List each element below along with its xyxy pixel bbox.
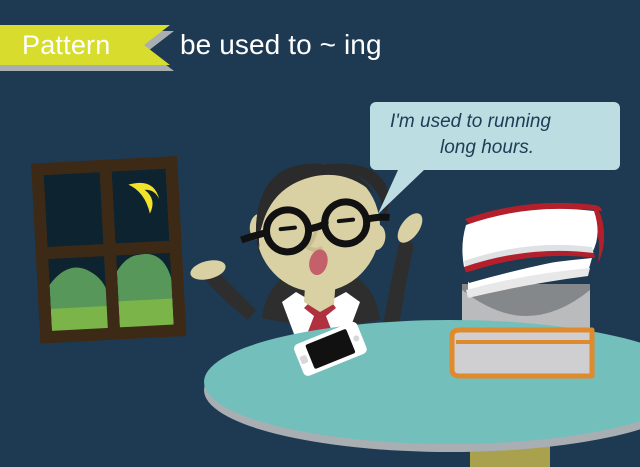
speech-bubble-line-2: long hours. xyxy=(440,137,534,159)
speech-bubble-line-1: I'm used to running xyxy=(390,111,551,133)
page-title: be used to ~ ing xyxy=(180,25,382,65)
right-arm xyxy=(382,209,427,332)
bottom-book xyxy=(452,330,592,376)
pattern-banner: Pattern xyxy=(0,25,200,69)
banner-label: Pattern xyxy=(22,25,110,65)
window-icon xyxy=(31,156,186,343)
character-figure xyxy=(188,154,427,348)
speech-bubble: I'm used to running long hours. xyxy=(370,102,620,170)
left-arm xyxy=(188,257,256,320)
illustration-canvas: Pattern be used to ~ ing I'm used to run… xyxy=(0,0,640,467)
